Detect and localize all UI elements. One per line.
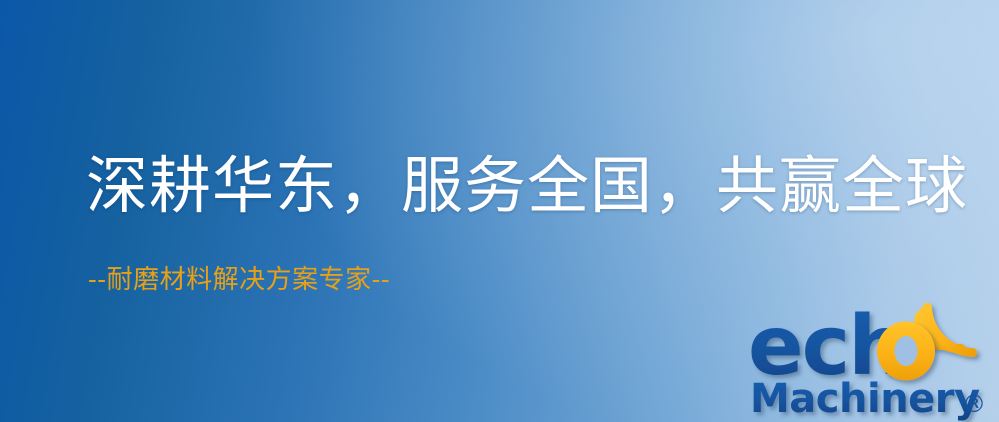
promo-banner: 深耕华东，服务全国，共赢全球 --耐磨材料解决方案专家-- [0,0,999,422]
banner-subtitle: --耐磨材料解决方案专家-- [88,266,390,295]
echo-machinery-logo: ech Machinery ® [744,294,999,422]
logo-registered-mark: ® [962,390,986,418]
logo-wordmark-gold-o [877,322,935,381]
banner-headline: 深耕华东，服务全国，共赢全球 [86,153,968,219]
logo-tagline: Machinery [750,376,980,422]
